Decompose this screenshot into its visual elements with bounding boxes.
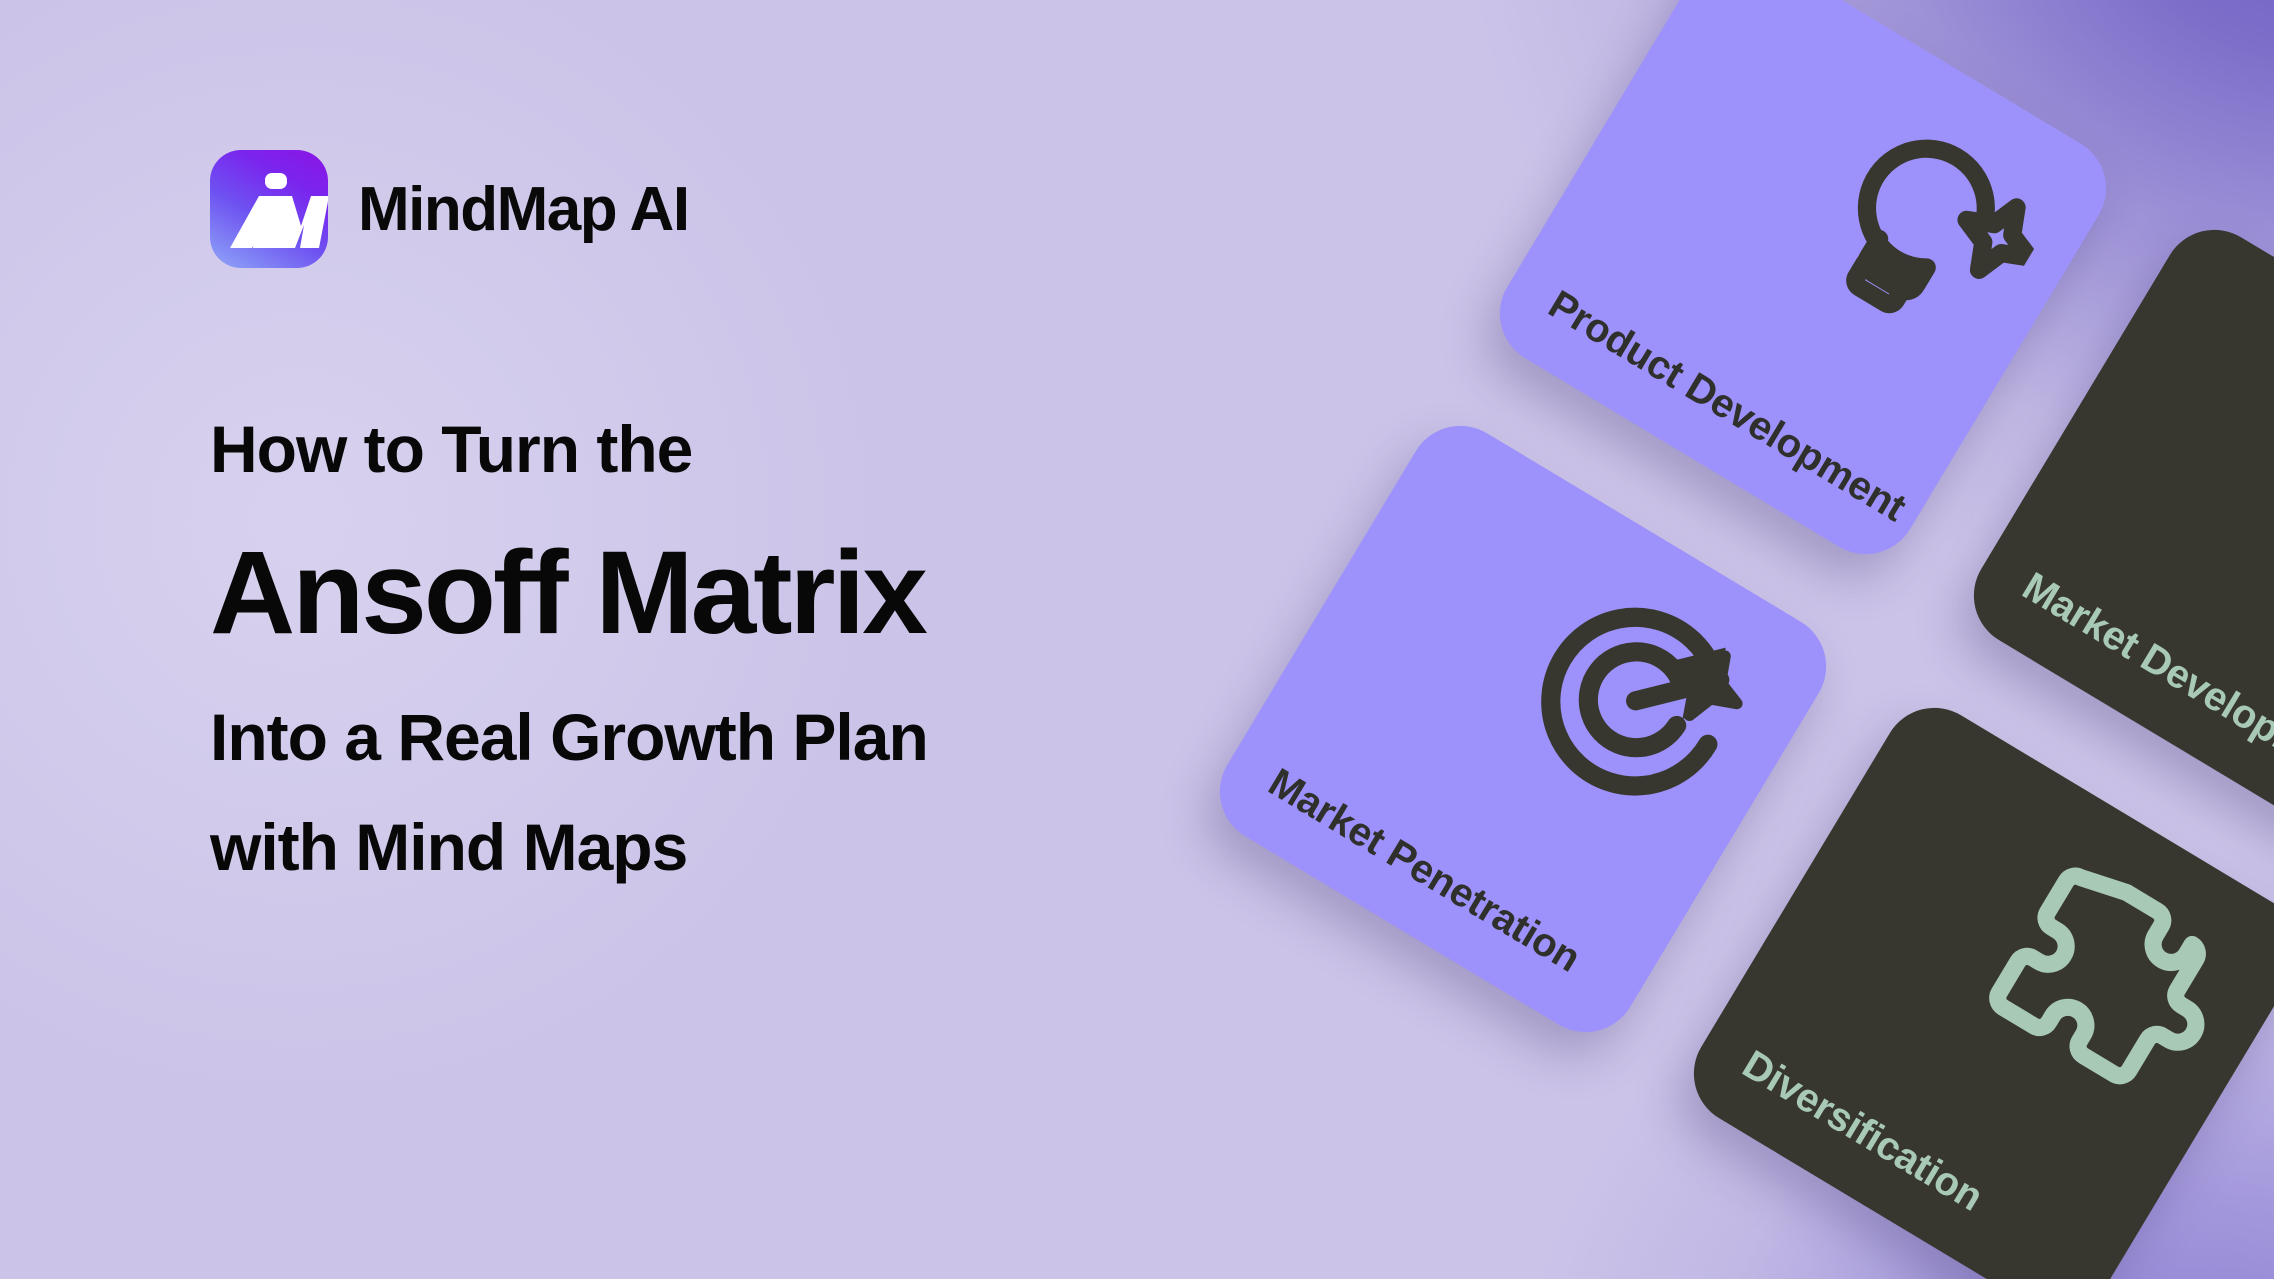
compass-icon	[2234, 344, 2274, 660]
lightbulb-sparkle-icon	[1760, 62, 2076, 378]
target-arrow-icon	[1480, 540, 1796, 856]
hero-banner: MindMap AI How to Turn the Ansoff Matrix…	[0, 0, 2274, 1279]
headline-line-2: Ansoff Matrix	[210, 534, 1270, 652]
headline-line-3: Into a Real Growth Plan	[210, 704, 1270, 770]
ansoff-card-market-penetration[interactable]: Market Penetration	[1201, 407, 1846, 1052]
brand-name: MindMap AI	[358, 174, 689, 245]
ansoff-card-label: Market Development	[2015, 564, 2274, 801]
ansoff-card-label: Diversification	[1735, 1042, 1991, 1220]
headline-line-4: with Mind Maps	[210, 814, 1270, 880]
ansoff-card-label: Product Development	[1541, 282, 1914, 531]
hero-text-column: MindMap AI How to Turn the Ansoff Matrix…	[210, 150, 1270, 880]
puzzle-piece-icon	[1954, 822, 2270, 1138]
brand-lockup: MindMap AI	[210, 150, 1270, 268]
headline-block: How to Turn the Ansoff Matrix Into a Rea…	[210, 416, 1270, 880]
headline-line-1: How to Turn the	[210, 416, 1270, 482]
mindmap-ai-logo-icon	[210, 150, 328, 268]
ansoff-card-label: Market Penetration	[1261, 760, 1588, 981]
